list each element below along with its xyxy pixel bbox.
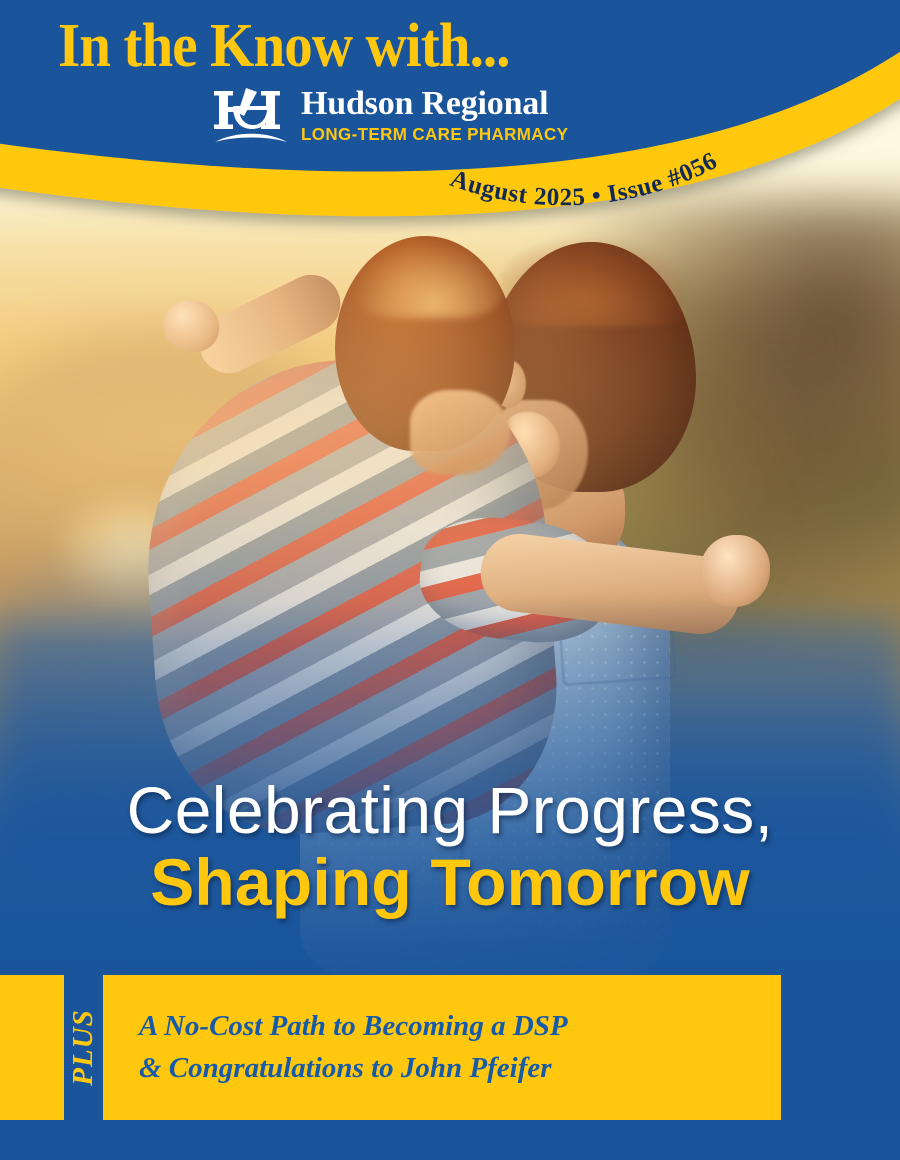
plus-accent-block <box>0 975 64 1120</box>
logo-tagline: LONG-TERM CARE PHARMACY <box>301 126 568 144</box>
newsletter-cover: In the Know with... <box>0 0 900 1160</box>
child-hand-on-shoulder <box>700 535 770 607</box>
child-pointing-hand <box>163 300 219 352</box>
plus-label-strip: PLUS <box>64 975 103 1120</box>
headline-line-1: Celebrating Progress, <box>0 776 900 845</box>
logo-name: Hudson Regional <box>301 87 577 121</box>
mortar-and-pestle-h-icon <box>213 86 289 144</box>
plus-teaser-box[interactable]: A No-Cost Path to Becoming a DSP & Congr… <box>103 975 781 1120</box>
masthead-title: In the Know with... <box>58 15 510 77</box>
plus-teaser-text: A No-Cost Path to Becoming a DSP & Congr… <box>103 1006 568 1088</box>
masthead: In the Know with... <box>0 0 900 260</box>
brand-logo: Hudson Regional LONG-TERM CARE PHARMACY <box>213 86 577 144</box>
headline-line-2: Shaping Tomorrow <box>0 847 900 918</box>
cover-headline: Celebrating Progress, Shaping Tomorrow <box>0 776 900 918</box>
logo-wordmark: Hudson Regional LONG-TERM CARE PHARMACY <box>301 87 577 144</box>
plus-label: PLUS <box>67 1009 100 1086</box>
